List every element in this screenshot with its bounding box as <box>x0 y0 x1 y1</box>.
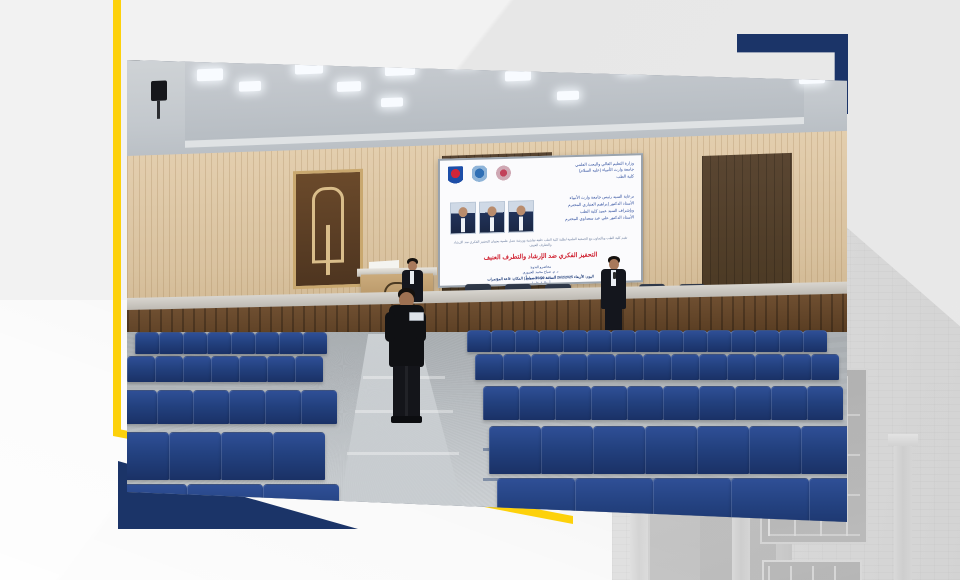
speaker-bracket <box>157 101 160 119</box>
seat <box>555 386 591 420</box>
seat <box>515 330 539 352</box>
seat <box>587 330 611 352</box>
seat <box>779 330 803 352</box>
seat <box>207 332 231 354</box>
seat <box>155 356 183 382</box>
seat <box>193 390 229 424</box>
seat <box>169 432 221 480</box>
seat <box>783 354 811 380</box>
desk-tablet <box>223 456 287 466</box>
camera-icon <box>409 312 424 321</box>
seat <box>229 390 265 424</box>
yellow-accent-vertical <box>113 0 121 434</box>
watermark-window <box>762 560 862 580</box>
seat <box>615 354 643 380</box>
seat <box>755 354 783 380</box>
seat <box>643 354 671 380</box>
seat-row <box>467 330 827 352</box>
slide-portraits <box>450 200 534 234</box>
seat <box>127 390 157 424</box>
seat <box>735 386 771 420</box>
seat <box>699 386 735 420</box>
seat <box>755 330 779 352</box>
seat <box>303 332 327 354</box>
seat-row <box>489 426 847 474</box>
seat <box>811 354 839 380</box>
seat <box>671 354 699 380</box>
seat <box>539 330 563 352</box>
seat <box>483 386 519 420</box>
seat <box>697 426 749 474</box>
seat <box>127 432 169 480</box>
desk-tablet <box>427 484 501 496</box>
seat <box>731 478 809 522</box>
ceiling-light <box>239 81 261 92</box>
ceiling-light <box>381 97 403 107</box>
seat <box>489 426 541 474</box>
seat <box>491 330 515 352</box>
poster-canvas: وزارة التعليم العالي والبحث العلمي جامعة… <box>0 0 960 580</box>
desk-tablet <box>141 420 195 429</box>
seat-row <box>127 390 337 424</box>
seat <box>593 426 645 474</box>
seat <box>255 332 279 354</box>
slide-ministry-header: وزارة التعليم العالي والبحث العلمي جامعة… <box>514 160 634 182</box>
slide-portrait <box>450 202 476 235</box>
seat-row <box>127 356 323 382</box>
ceiling-light <box>197 68 223 81</box>
arabesque-wall-panel <box>293 169 363 289</box>
desk-tablet <box>723 452 783 462</box>
photo-content: وزارة التعليم العالي والبحث العلمي جامعة… <box>127 60 847 522</box>
slide-portrait <box>508 200 534 233</box>
seat <box>531 354 559 380</box>
seat <box>801 426 847 474</box>
seat <box>519 386 555 420</box>
seat <box>731 330 755 352</box>
event-photograph: وزارة التعليم العالي والبحث العلمي جامعة… <box>127 60 847 522</box>
seat <box>159 332 183 354</box>
seat <box>707 330 731 352</box>
seat <box>559 354 587 380</box>
seat <box>591 386 627 420</box>
ceiling-light <box>505 70 531 81</box>
seat <box>503 354 531 380</box>
seat <box>239 356 267 382</box>
seat <box>467 330 491 352</box>
seat-row <box>483 386 843 420</box>
seat <box>699 354 727 380</box>
seat <box>803 330 827 352</box>
seat <box>183 332 207 354</box>
desk-tablet <box>247 470 313 480</box>
person-legs <box>605 308 622 330</box>
seat <box>627 386 663 420</box>
desk-tablet <box>287 458 343 467</box>
seat <box>295 356 323 382</box>
seat <box>211 356 239 382</box>
stage-speaker-with-microphone <box>597 256 629 330</box>
ceiling-light <box>337 81 361 92</box>
slide-subtext: تقيم كلية الطب وبالتعاون مع الجمعية العل… <box>448 235 633 251</box>
seat <box>727 354 755 380</box>
seat <box>749 426 801 474</box>
seat <box>635 330 659 352</box>
seat <box>135 332 159 354</box>
seat <box>279 332 303 354</box>
seat <box>611 330 635 352</box>
seat <box>265 390 301 424</box>
person-shirt <box>410 271 414 284</box>
seat <box>157 390 193 424</box>
seat <box>645 426 697 474</box>
seat <box>127 356 155 382</box>
seat <box>183 356 211 382</box>
slide-portrait <box>479 201 505 234</box>
seat-row <box>135 332 327 354</box>
ministry-emblem-icon <box>448 166 463 185</box>
seat <box>541 426 593 474</box>
seat <box>663 386 699 420</box>
person-shoes <box>391 416 422 423</box>
seat-row <box>475 354 839 380</box>
person-legs <box>393 366 420 418</box>
photographer-in-aisle <box>385 288 427 424</box>
aisle-step <box>347 452 459 455</box>
university-emblem-icon <box>472 165 487 184</box>
seat <box>475 354 503 380</box>
watermark-column <box>894 446 912 580</box>
seat <box>267 356 295 382</box>
seat <box>683 330 707 352</box>
seat <box>563 330 587 352</box>
ceiling-light <box>557 91 579 101</box>
slide-emblems <box>448 165 511 186</box>
seat <box>231 332 255 354</box>
seat <box>807 386 843 420</box>
college-emblem-icon <box>496 165 511 184</box>
seat <box>771 386 807 420</box>
seat <box>587 354 615 380</box>
microphone-icon <box>613 272 616 279</box>
person-arm <box>385 312 395 342</box>
seat <box>659 330 683 352</box>
seat <box>809 478 847 522</box>
seat <box>301 390 337 424</box>
wall-speaker <box>151 80 167 101</box>
